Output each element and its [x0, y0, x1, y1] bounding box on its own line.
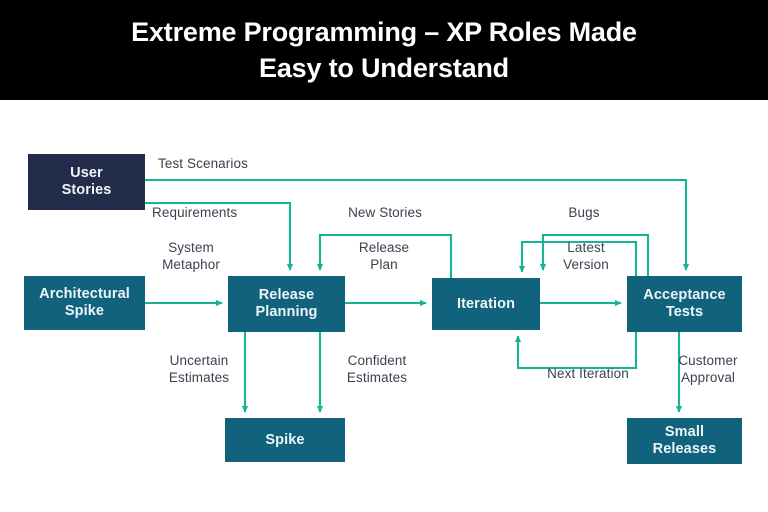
node-small-releases[interactable]: SmallReleases [627, 418, 742, 464]
node-user-stories[interactable]: UserStories [28, 154, 145, 210]
edge-label-requirements: Requirements [152, 205, 282, 222]
edge-label-bugs: Bugs [551, 205, 617, 222]
title-banner: Extreme Programming – XP Roles Made Easy… [0, 0, 768, 100]
node-spike-label: Spike [265, 432, 304, 449]
edge-label-uncertain-estimates: UncertainEstimates [150, 353, 248, 386]
edge-label-latest-version: LatestVersion [550, 240, 622, 273]
edge-label-customer-approval: CustomerApproval [662, 353, 754, 386]
page-title-line-2: Easy to Understand [259, 50, 509, 86]
edge-label-system-metaphor: SystemMetaphor [148, 240, 234, 273]
node-acceptance-tests-label: AcceptanceTests [643, 287, 725, 321]
node-iteration-label: Iteration [457, 296, 515, 313]
node-spike[interactable]: Spike [225, 418, 345, 462]
node-release-planning-label: ReleasePlanning [255, 287, 317, 321]
node-user-stories-label: UserStories [62, 165, 112, 199]
edge-label-release-plan: ReleasePlan [348, 240, 420, 273]
node-release-planning[interactable]: ReleasePlanning [228, 276, 345, 332]
edge-label-test-scenarios: Test Scenarios [158, 156, 288, 173]
edge-label-next-iteration: Next Iteration [528, 366, 648, 383]
xp-roles-slide: Extreme Programming – XP Roles Made Easy… [0, 0, 768, 512]
edge-label-confident-estimates: ConfidentEstimates [328, 353, 426, 386]
node-acceptance-tests[interactable]: AcceptanceTests [627, 276, 742, 332]
node-small-releases-label: SmallReleases [653, 424, 717, 458]
page-title-line-1: Extreme Programming – XP Roles Made [131, 14, 637, 50]
node-architectural-spike[interactable]: ArchitecturalSpike [24, 276, 145, 330]
edge-label-new-stories: New Stories [330, 205, 440, 222]
edge-next-iteration [518, 332, 636, 368]
node-iteration[interactable]: Iteration [432, 278, 540, 330]
node-architectural-spike-label: ArchitecturalSpike [39, 286, 130, 320]
xp-process-diagram: UserStories ArchitecturalSpike ReleasePl… [0, 100, 768, 512]
